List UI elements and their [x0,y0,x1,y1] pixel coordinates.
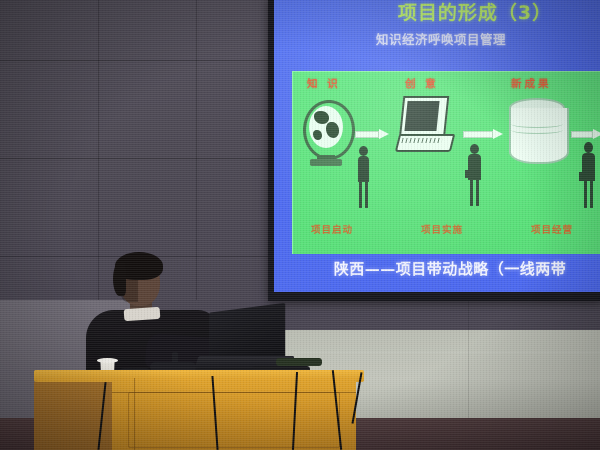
person-silhouette [465,144,485,206]
lecture-hall-photo: 项目的形成（3） 知识经济呼唤项目管理 知 识 创 意 新成果 [0,0,600,450]
slide-title: 项目的形成（3） [274,0,600,25]
laptop-screen [209,303,285,362]
flow-arrow [571,129,600,140]
flow-arrow [355,129,389,140]
globe-icon [303,100,349,168]
person-silhouette [355,146,373,208]
diagram-header-new-result: 新成果 [511,76,552,91]
laptop-icon [397,96,453,154]
diagram-footer-project-launch: 项目启动 [311,222,353,236]
diagram-header-knowledge: 知 识 [307,76,341,91]
slide-subtitle: 知识经济呼唤项目管理 [274,29,600,48]
paper-cup-rim [97,358,118,363]
wall-seam [0,158,268,159]
projected-slide: 项目的形成（3） 知识经济呼唤项目管理 知 识 创 意 新成果 [274,0,600,292]
person-silhouette [579,142,599,208]
presenter-collar [124,307,161,321]
presenter-hair-side [113,262,126,296]
microphone-stem [172,352,178,368]
slide-footer-text: 陕西——项目带动战略（一线两带 [274,258,600,279]
slide-diagram-panel: 知 识 创 意 新成果 [292,71,600,254]
diagram-header-idea: 创 意 [405,76,439,91]
projection-screen-frame: 项目的形成（3） 知识经济呼唤项目管理 知 识 创 意 新成果 [268,0,600,301]
wall-seam [0,60,268,61]
diagram-footer-project-implementation: 项目实施 [421,222,463,236]
database-cylinder-icon [509,98,565,164]
wall-seam [468,300,469,420]
flow-arrow [463,129,503,140]
podium-front-panel [128,392,340,448]
desk-object [276,358,322,366]
diagram-footer-project-operation: 项目经营 [531,222,573,236]
